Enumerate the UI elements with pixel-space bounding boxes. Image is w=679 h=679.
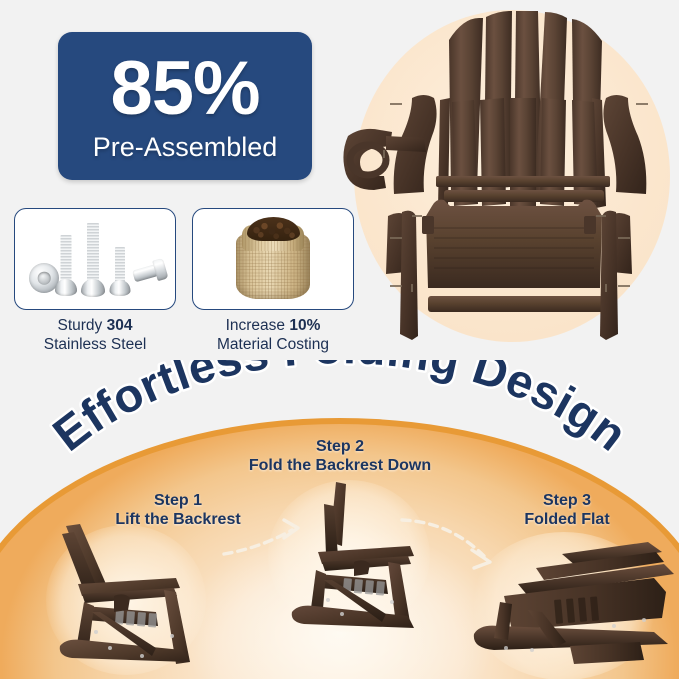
exploded-parts-svg (340, 0, 679, 375)
step3-label: Step 3 Folded Flat (482, 492, 652, 530)
lower-front-rail (428, 296, 604, 312)
sack-seeds (247, 217, 300, 241)
burlap-sack-icon (228, 217, 318, 301)
step3-chair-image (466, 530, 676, 679)
caption-line2-2: Material Costing (217, 336, 329, 353)
feature-caption-stainless: Sturdy 304 Stainless Steel (14, 317, 176, 355)
caption-prefix-1: Sturdy (58, 317, 107, 334)
feature-caption-costing: Increase 10% Material Costing (192, 317, 354, 355)
right-hinge-bracket (584, 216, 596, 234)
feature-material-costing: Increase 10% Material Costing (192, 208, 354, 355)
badge-percent: 85% (110, 53, 259, 125)
screws-image-box (14, 208, 176, 310)
folding-design-section: Effortless Folding Design (0, 360, 679, 679)
exploded-chair-diagram (340, 0, 679, 375)
seat-slat-assembly (426, 200, 602, 288)
step2-label: Step 2 Fold the Backrest Down (240, 438, 440, 476)
screw-icon-2 (81, 223, 105, 297)
step3-number: Step 3 (482, 492, 652, 511)
right-leg-panel (600, 211, 632, 340)
step2-desc: Fold the Backrest Down (240, 457, 440, 476)
step1-desc: Lift the Backrest (78, 511, 278, 530)
screw-icon-1 (55, 235, 77, 297)
left-leg-panel (386, 211, 418, 340)
step1-label: Step 1 Lift the Backrest (78, 492, 278, 530)
caption-bold-2: 10% (289, 317, 320, 334)
caption-line2-1: Stainless Steel (44, 336, 147, 353)
left-hinge-bracket (422, 216, 434, 234)
back-support-slat (444, 190, 604, 202)
feature-stainless-steel: Sturdy 304 Stainless Steel (14, 208, 176, 355)
step2-chair-image (262, 478, 438, 640)
caption-bold-1: 304 (107, 317, 133, 334)
infographic-canvas: 85% Pre-Assembled (0, 0, 679, 679)
caption-prefix-2: Increase (226, 317, 290, 334)
sack-image-box (192, 208, 354, 310)
step2-number: Step 2 (240, 438, 440, 457)
step1-number: Step 1 (78, 492, 278, 511)
badge-subtitle: Pre-Assembled (93, 134, 278, 161)
pre-assembled-badge: 85% Pre-Assembled (58, 32, 312, 180)
step1-chair-image (38, 520, 218, 678)
step3-desc: Folded Flat (482, 511, 652, 530)
screw-icon-3 (109, 247, 130, 297)
